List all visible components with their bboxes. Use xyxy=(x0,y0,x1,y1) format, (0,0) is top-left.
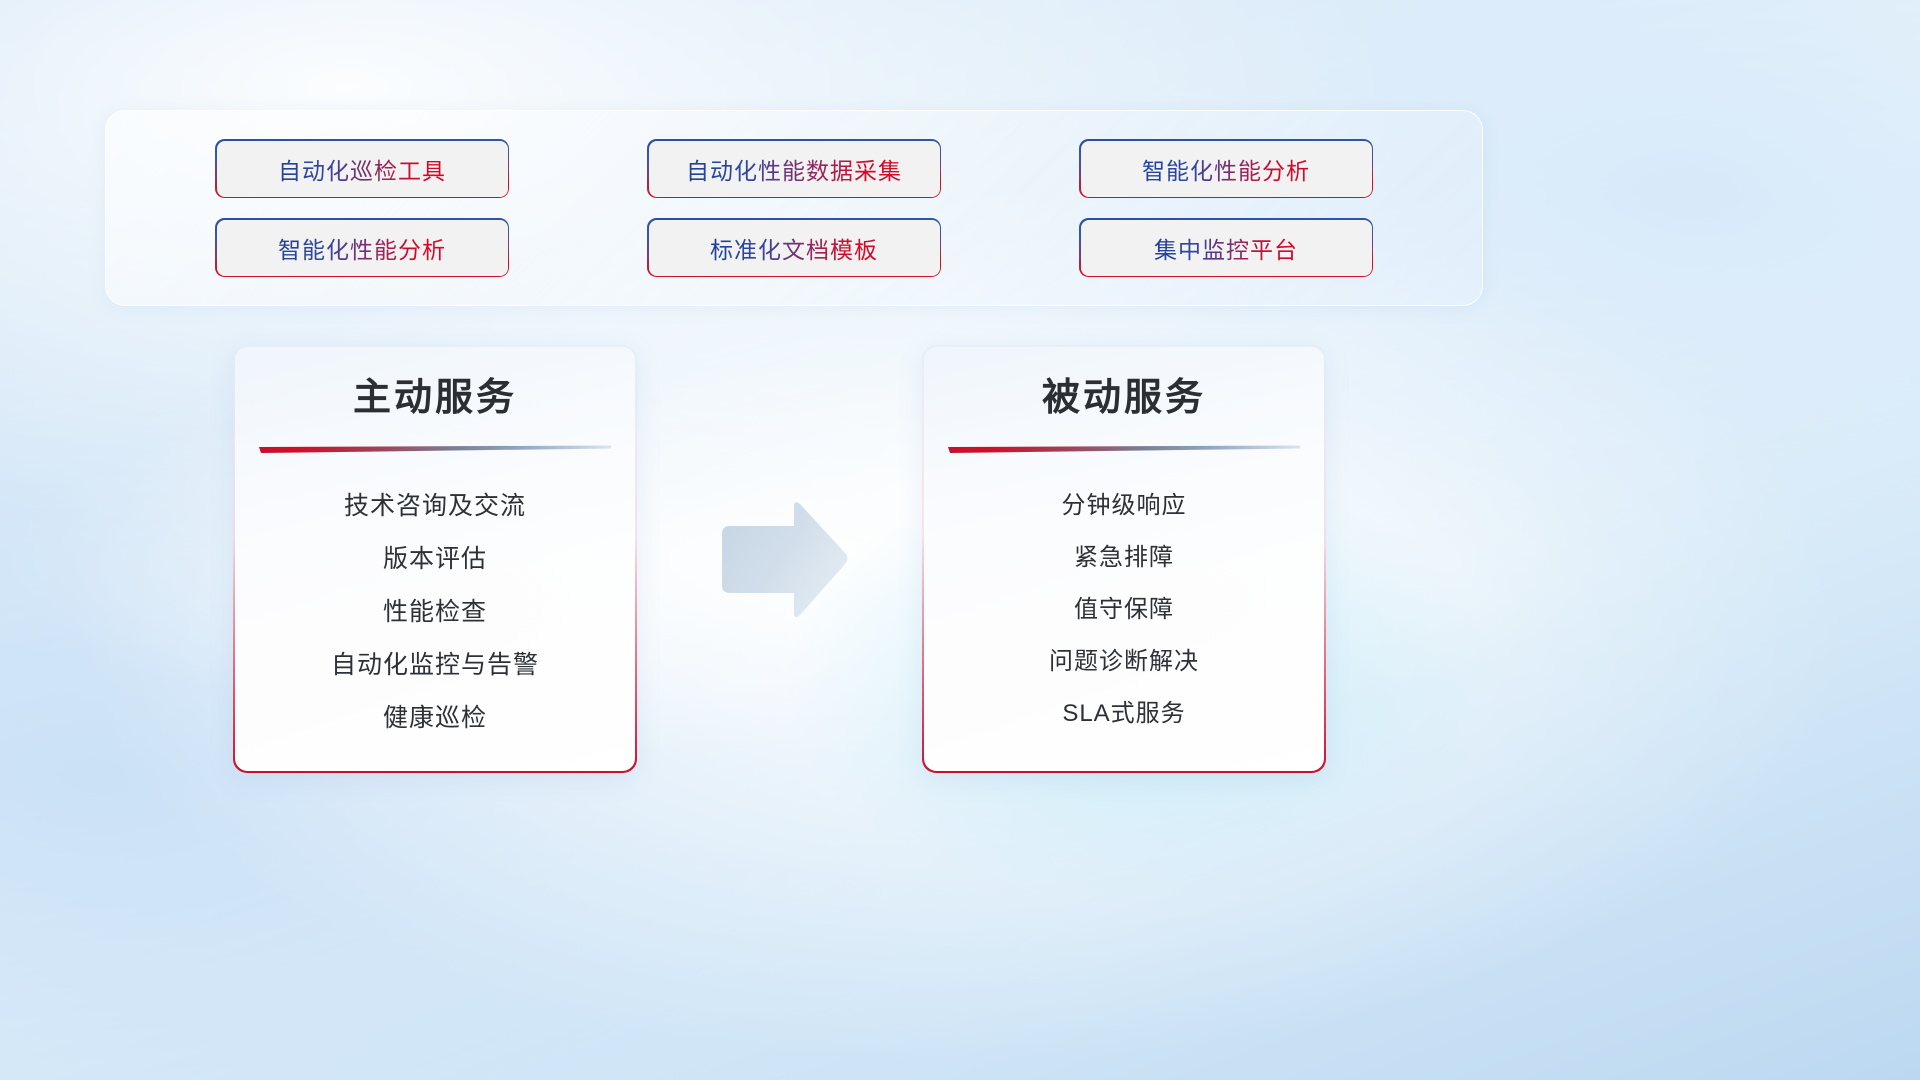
service-card-proactive: 主动服务 技术咨询及交流 版本评估 性能检查 xyxy=(233,345,637,773)
capability-tag-0[interactable]: 自动化巡检工具 xyxy=(217,141,508,197)
capability-tag-label: 智能化性能分析 xyxy=(1142,152,1310,186)
capability-tag-label: 标准化文档模板 xyxy=(710,231,878,265)
capability-tag-panel: 自动化巡检工具 自动化性能数据采集 智能化性能分析 智能化性能分析 标准化文档模… xyxy=(105,110,1483,306)
card-item-list: 技术咨询及交流 版本评估 性能检查 自动化监控与告警 健康巡检 xyxy=(235,480,636,745)
arrow-right-icon xyxy=(716,500,850,620)
card-item-list: 分钟级响应 紧急排障 值守保障 问题诊断解决 SLA式服务 xyxy=(924,480,1325,740)
list-item: 紧急排障 xyxy=(1074,532,1174,584)
list-item: 技术咨询及交流 xyxy=(344,480,526,533)
capability-tag-label: 集中监控平台 xyxy=(1154,231,1298,265)
card-title: 被动服务 xyxy=(1042,375,1206,423)
capability-tag-3[interactable]: 智能化性能分析 xyxy=(217,220,508,276)
capability-tag-1[interactable]: 自动化性能数据采集 xyxy=(649,141,940,197)
list-item: 分钟级响应 xyxy=(1062,480,1187,532)
capability-tag-label: 自动化性能数据采集 xyxy=(686,152,902,186)
list-item: 值守保障 xyxy=(1074,584,1174,636)
list-item: 自动化监控与告警 xyxy=(331,639,539,692)
capability-tag-2[interactable]: 智能化性能分析 xyxy=(1081,141,1372,197)
card-title: 主动服务 xyxy=(353,375,517,423)
capability-tag-5[interactable]: 集中监控平台 xyxy=(1081,220,1372,276)
capability-tag-4[interactable]: 标准化文档模板 xyxy=(649,220,940,276)
list-item: SLA式服务 xyxy=(1062,688,1185,740)
list-item: 健康巡检 xyxy=(383,692,487,745)
service-card-reactive: 被动服务 分钟级响应 紧急排障 值守保障 xyxy=(922,345,1326,773)
list-item: 问题诊断解决 xyxy=(1049,636,1199,688)
card-divider xyxy=(259,444,611,458)
list-item: 版本评估 xyxy=(383,533,487,586)
capability-tag-label: 自动化巡检工具 xyxy=(278,152,446,186)
list-item: 性能检查 xyxy=(383,586,487,639)
card-divider xyxy=(948,444,1300,458)
capability-tag-label: 智能化性能分析 xyxy=(278,231,446,265)
